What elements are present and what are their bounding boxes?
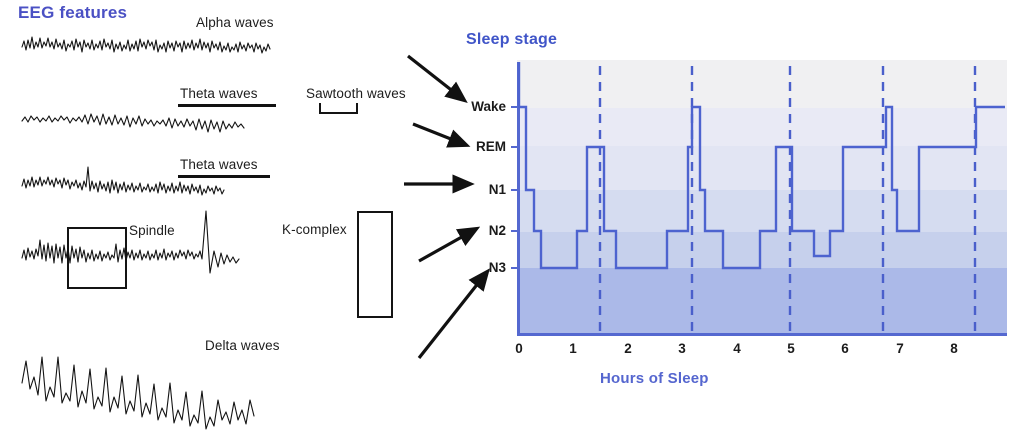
- xtick-1: 1: [561, 341, 585, 356]
- xtick-5: 5: [779, 341, 803, 356]
- band-n3: [517, 268, 1007, 336]
- hypnogram-chart: [0, 0, 1024, 444]
- band-n2: [517, 190, 1007, 232]
- ytick-n1: N1: [444, 182, 506, 197]
- band-rem: [517, 108, 1007, 146]
- xtick-0: 0: [507, 341, 531, 356]
- band-n1: [517, 146, 1007, 190]
- band-wake: [517, 60, 1007, 108]
- xtick-4: 4: [725, 341, 749, 356]
- ytick-n3: N3: [444, 260, 506, 275]
- xtick-6: 6: [833, 341, 857, 356]
- xtick-3: 3: [670, 341, 694, 356]
- ytick-wake: Wake: [444, 99, 506, 114]
- band-n2b: [517, 232, 1007, 268]
- xtick-8: 8: [942, 341, 966, 356]
- x-axis-title: Hours of Sleep: [600, 370, 709, 387]
- ytick-rem: REM: [444, 139, 506, 154]
- xtick-7: 7: [888, 341, 912, 356]
- stage-bands: [517, 60, 1007, 336]
- ytick-n2: N2: [444, 223, 506, 238]
- xtick-2: 2: [616, 341, 640, 356]
